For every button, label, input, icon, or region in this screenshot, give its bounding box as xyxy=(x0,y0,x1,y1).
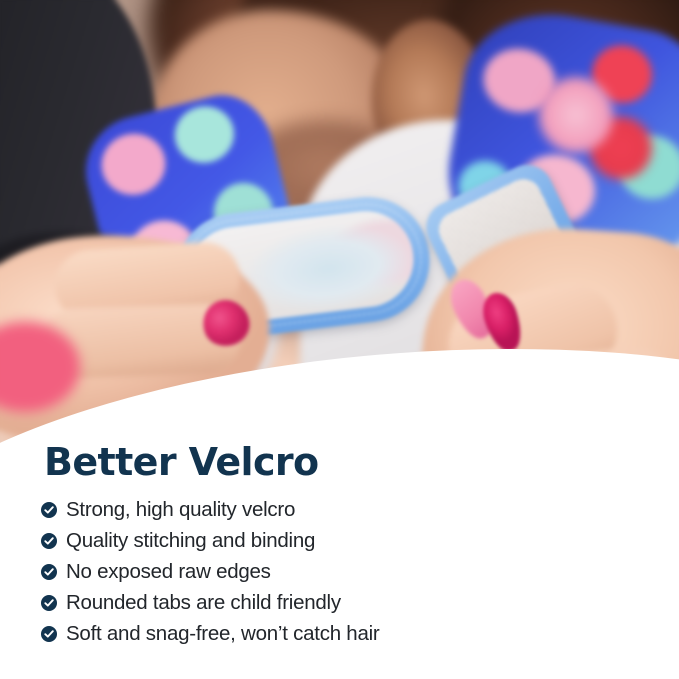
product-feature-card: Better Velcro Strong, high quality velcr… xyxy=(0,0,679,679)
check-circle-icon xyxy=(41,626,57,642)
list-item: No exposed raw edges xyxy=(41,556,641,587)
list-item: Soft and snag-free, won’t catch hair xyxy=(41,618,641,649)
page-title: Better Velcro xyxy=(44,442,319,482)
check-circle-icon xyxy=(41,533,57,549)
list-item-label: No exposed raw edges xyxy=(66,560,271,584)
list-item-label: Rounded tabs are child friendly xyxy=(66,591,341,615)
list-item: Strong, high quality velcro xyxy=(41,494,641,525)
list-item-label: Quality stitching and binding xyxy=(66,529,315,553)
list-item-label: Strong, high quality velcro xyxy=(66,498,295,522)
check-circle-icon xyxy=(41,564,57,580)
list-item: Quality stitching and binding xyxy=(41,525,641,556)
feature-content: Better Velcro Strong, high quality velcr… xyxy=(0,0,679,679)
list-item-label: Soft and snag-free, won’t catch hair xyxy=(66,622,380,646)
check-circle-icon xyxy=(41,595,57,611)
list-item: Rounded tabs are child friendly xyxy=(41,587,641,618)
feature-list: Strong, high quality velcro Quality stit… xyxy=(41,494,641,649)
check-circle-icon xyxy=(41,502,57,518)
